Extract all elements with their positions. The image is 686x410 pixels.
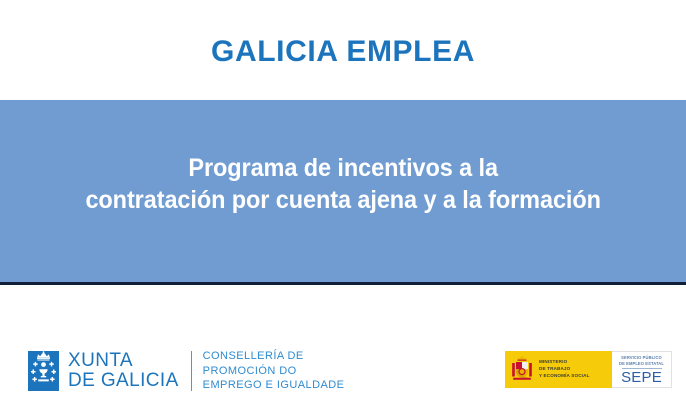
xunta-de-galicia-logo: XUNTA DE GALICIA CONSELLERÍA DE PROMOCIÓ… xyxy=(28,348,344,394)
conselleria-line-3: EMPREGO E IGUALDADE xyxy=(203,378,345,393)
logo-divider xyxy=(191,351,192,391)
slide-root: GALICIA EMPLEA Programa de incentivos a … xyxy=(0,0,686,410)
program-banner-line-1: Programa de incentivos a la xyxy=(85,152,600,185)
xunta-wordmark-line-2: DE GALICIA xyxy=(68,371,179,391)
ministry-wordmark: MINISTERIO DE TRABAJO Y ECONOMÍA SOCIAL xyxy=(539,359,590,380)
ministry-line-2: DE TRABAJO xyxy=(539,366,590,373)
footer-logos: XUNTA DE GALICIA CONSELLERÍA DE PROMOCIÓ… xyxy=(0,285,686,410)
xunta-wordmark-line-1: XUNTA xyxy=(68,351,179,371)
spain-coat-of-arms-icon xyxy=(510,355,534,384)
xunta-wordmark: XUNTA DE GALICIA xyxy=(68,351,179,392)
conselleria-line-2: PROMOCIÓN DO xyxy=(203,364,345,379)
sepe-tagline: SERVICIO PÚBLICO DE EMPLEO ESTATAL xyxy=(619,355,664,367)
sepe-tagline-line-2: DE EMPLEO ESTATAL xyxy=(619,361,664,367)
ministry-line-3: Y ECONOMÍA SOCIAL xyxy=(539,373,590,380)
ministry-logo: MINISTERIO DE TRABAJO Y ECONOMÍA SOCIAL xyxy=(505,351,612,388)
conselleria-wordmark: CONSELLERÍA DE PROMOCIÓN DO EMPREGO E IG… xyxy=(203,349,345,393)
sepe-tagline-line-1: SERVICIO PÚBLICO xyxy=(619,355,664,361)
program-banner-line-2: contratación por cuenta ajena y a la for… xyxy=(85,184,600,217)
page-title: GALICIA EMPLEA xyxy=(211,33,475,67)
title-zone: GALICIA EMPLEA xyxy=(0,0,686,100)
galicia-coat-of-arms-icon xyxy=(28,351,59,391)
sepe-acronym: SEPE xyxy=(621,370,662,386)
ministry-line-1: MINISTERIO xyxy=(539,359,590,366)
government-logos: MINISTERIO DE TRABAJO Y ECONOMÍA SOCIAL … xyxy=(505,351,672,388)
sepe-logo: SERVICIO PÚBLICO DE EMPLEO ESTATAL SEPE xyxy=(612,351,672,388)
program-banner-text: Programa de incentivos a la contratación… xyxy=(85,152,600,231)
program-banner: Programa de incentivos a la contratación… xyxy=(0,100,686,282)
conselleria-line-1: CONSELLERÍA DE xyxy=(203,349,345,364)
